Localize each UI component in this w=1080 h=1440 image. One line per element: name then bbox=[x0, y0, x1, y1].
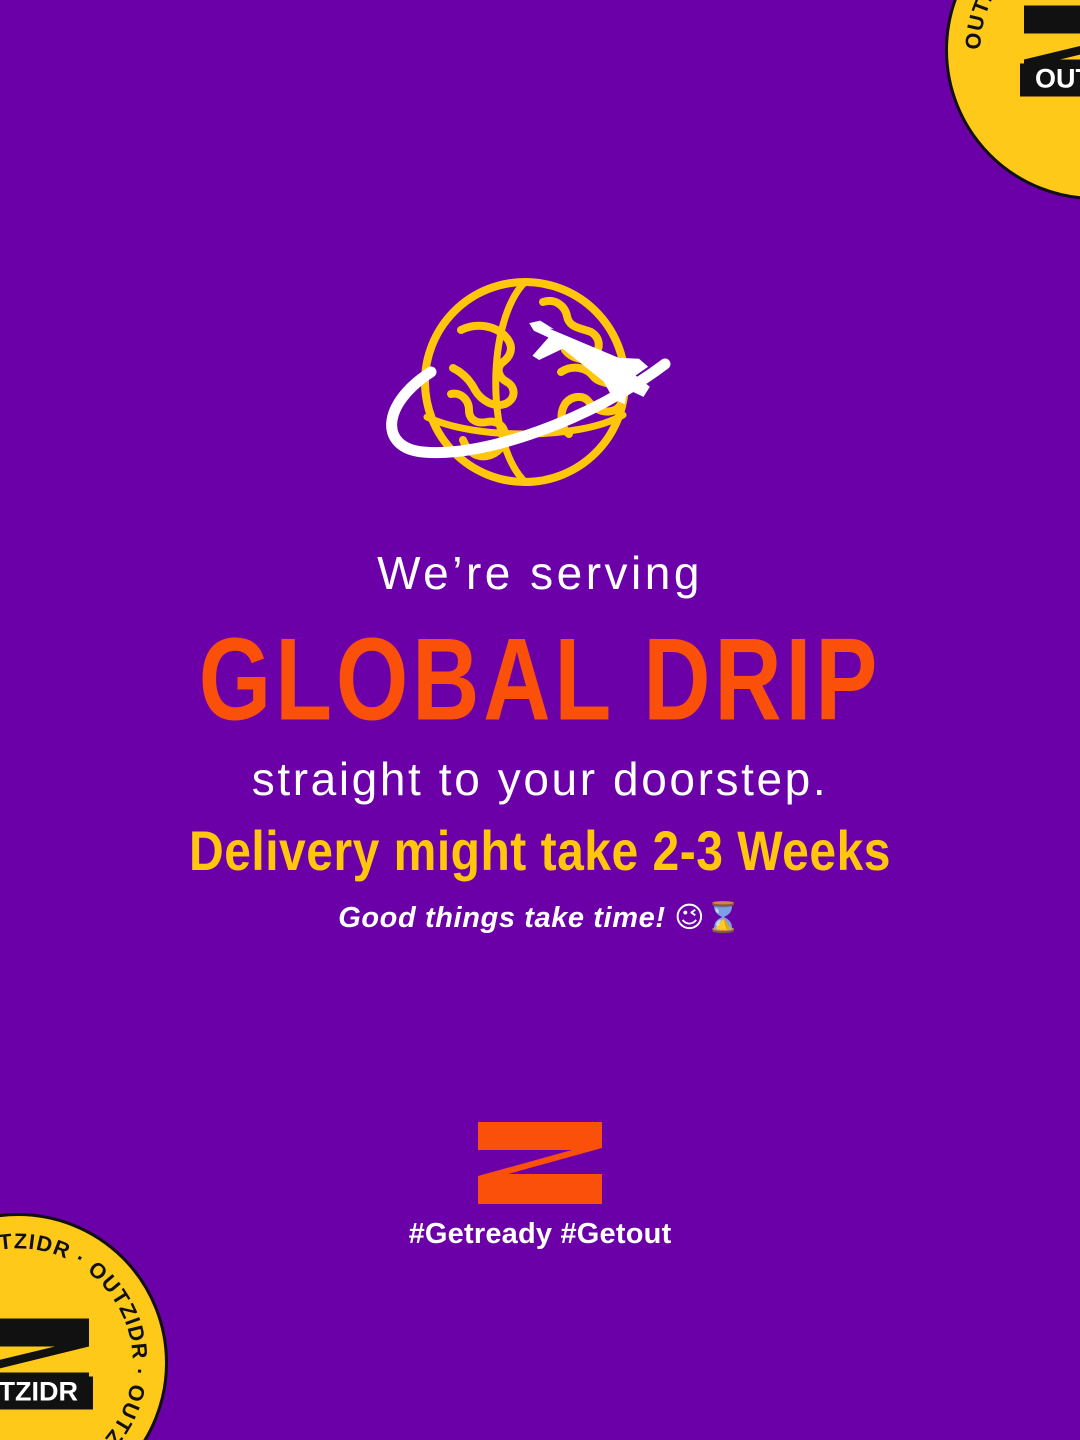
brand-badge-top-right: OUTZIDR · OUTZIDR · OUTZIDR · OUTZIDR · … bbox=[945, 0, 1080, 200]
footer-brand-block: #Getready #Getout bbox=[0, 1122, 1080, 1251]
headline-tail: straight to your doorstep. bbox=[0, 754, 1080, 805]
hashtags-text: #Getready #Getout bbox=[409, 1218, 672, 1251]
delivery-subtext-label: Good things take time! bbox=[338, 902, 674, 934]
headline-eyebrow: We’re serving bbox=[0, 548, 1080, 599]
globe-airplane-emblem bbox=[0, 272, 1080, 502]
promo-poster: OUTZIDR · OUTZIDR · OUTZIDR · OUTZIDR · … bbox=[0, 0, 1080, 1440]
z-logo-icon bbox=[478, 1122, 602, 1204]
badge-center-mark-bottom-left: OUTZIDR bbox=[0, 1317, 93, 1410]
badge-wordmark: OUTZIDR bbox=[0, 1377, 93, 1410]
badge-wordmark: OUTZIDR bbox=[1020, 64, 1080, 97]
page-title: GLOBAL DRIP bbox=[16, 611, 1064, 749]
globe-icon bbox=[365, 272, 715, 502]
wink-hourglass-emoji: 😉⌛ bbox=[674, 900, 742, 934]
delivery-notice-block: Delivery might take 2-3 Weeks Good thing… bbox=[0, 822, 1080, 935]
delivery-estimate-text: Delivery might take 2-3 Weeks bbox=[11, 822, 1069, 883]
badge-center-mark-top-right: OUTZIDR bbox=[1020, 4, 1080, 97]
delivery-subtext: Good things take time! 😉⌛ bbox=[0, 900, 1080, 935]
headline-block: We’re serving GLOBAL DRIP straight to yo… bbox=[0, 548, 1080, 804]
